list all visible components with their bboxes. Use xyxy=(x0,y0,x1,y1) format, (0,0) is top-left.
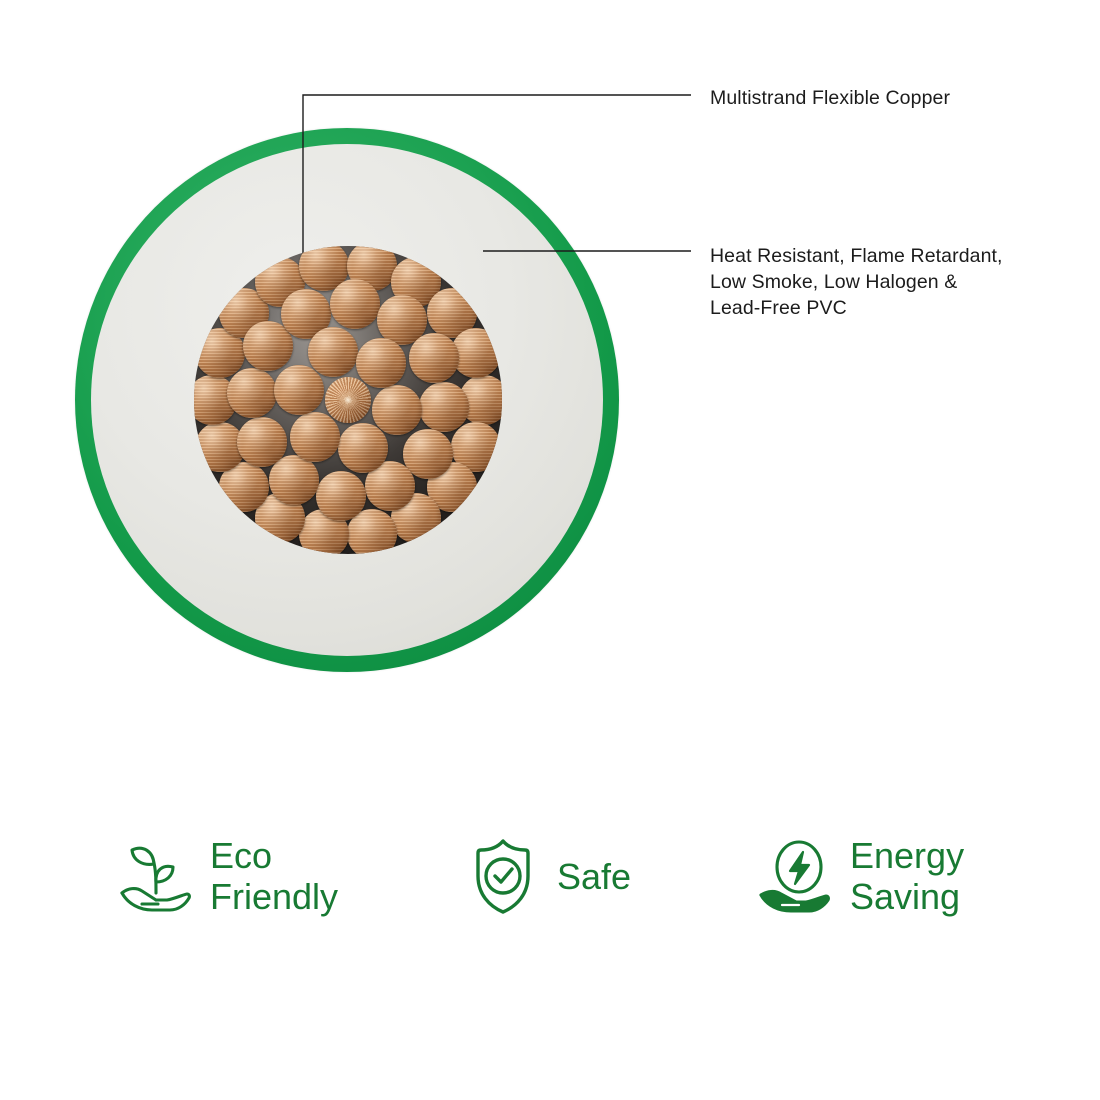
copper-strand xyxy=(330,279,380,329)
feature-badge-eco-friendly: Eco Friendly xyxy=(118,826,338,926)
feature-badge-row: Eco Friendly Safe xyxy=(110,826,1030,926)
feature-badge-energy-saving: Energy Saving xyxy=(758,826,964,926)
infographic-canvas: Multistrand Flexible Copper Heat Resista… xyxy=(0,0,1100,1100)
feature-badge-safe: Safe xyxy=(465,826,631,926)
shield-check-icon xyxy=(465,836,541,916)
callout-label-pvc: Heat Resistant, Flame Retardant, Low Smo… xyxy=(710,243,1003,321)
copper-strand xyxy=(316,471,366,521)
hand-plant-icon xyxy=(118,836,194,916)
hand-bolt-icon xyxy=(758,836,834,916)
feature-label-eco-friendly: Eco Friendly xyxy=(210,835,338,917)
callout-label-copper: Multistrand Flexible Copper xyxy=(710,85,950,111)
copper-strand xyxy=(227,368,277,418)
cable-cross-section-diagram xyxy=(70,122,626,678)
copper-strand xyxy=(338,423,388,473)
copper-strand xyxy=(325,377,371,423)
feature-label-energy-saving: Energy Saving xyxy=(850,835,964,917)
copper-strand-bundle xyxy=(194,246,502,554)
copper-strand xyxy=(308,327,358,377)
copper-strand xyxy=(409,333,459,383)
copper-strand xyxy=(237,417,287,467)
feature-label-safe: Safe xyxy=(557,856,631,897)
copper-strand xyxy=(419,382,469,432)
